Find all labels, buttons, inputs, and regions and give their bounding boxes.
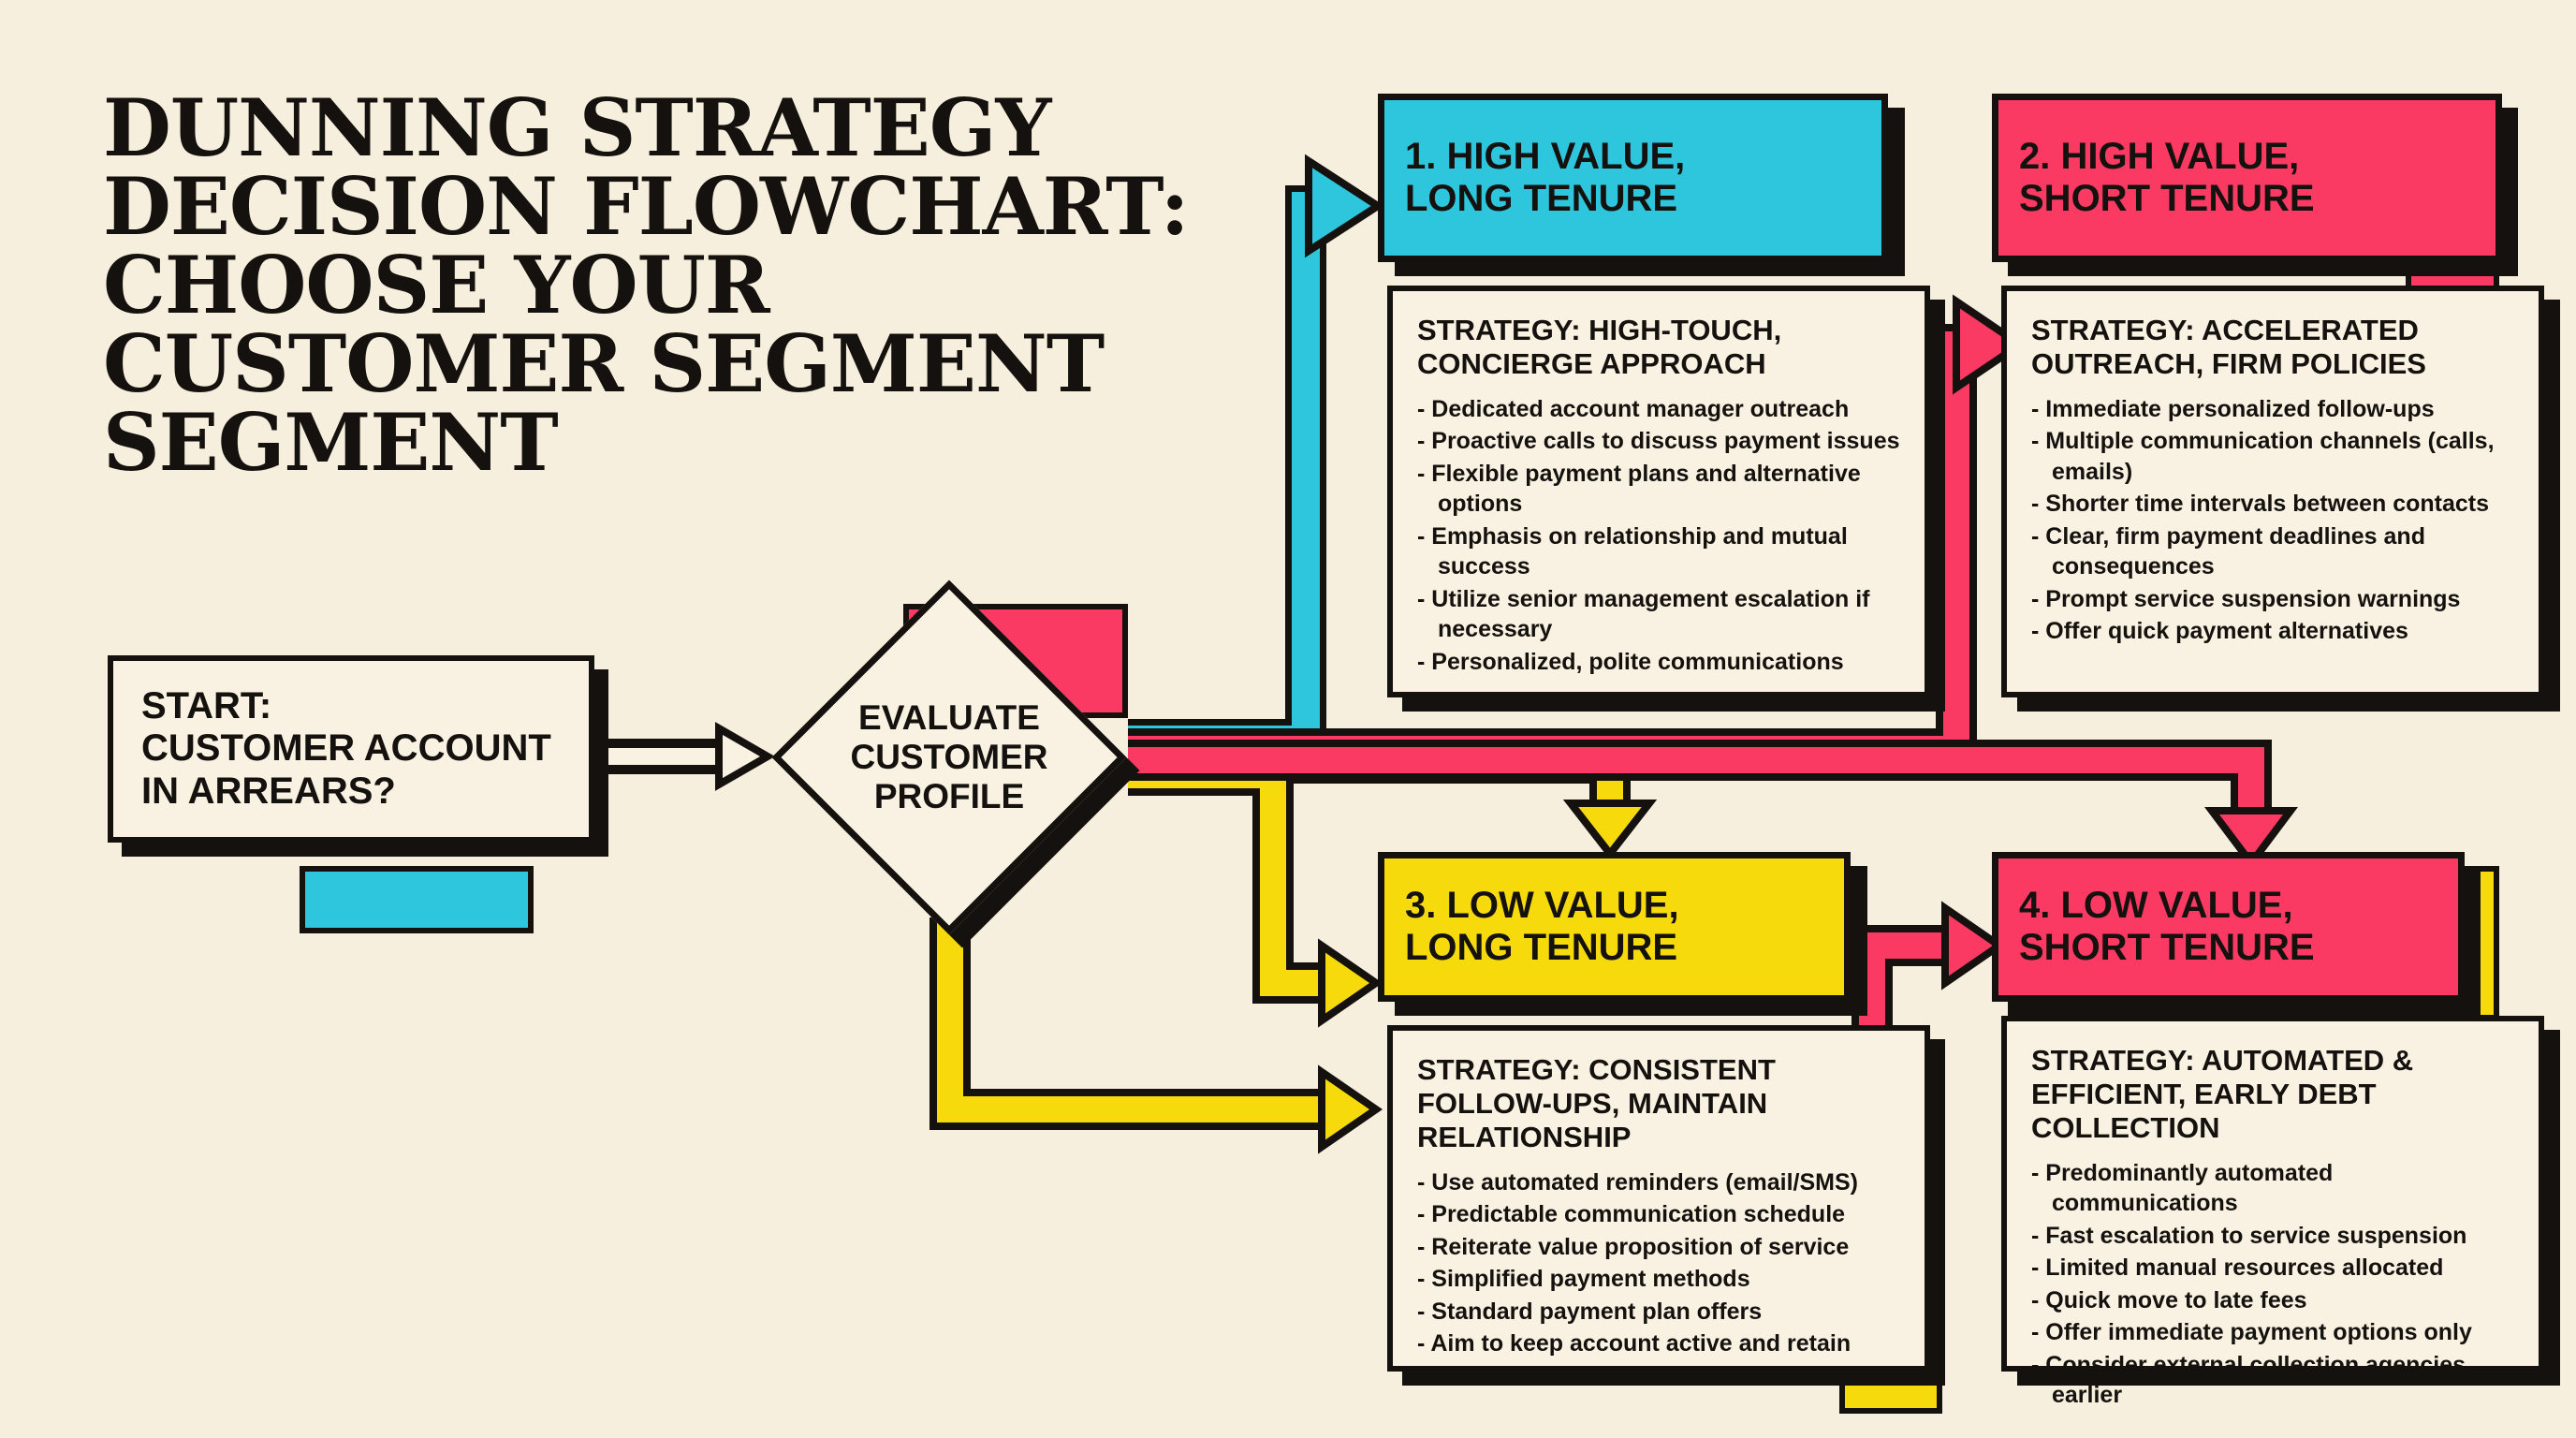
title-line-5: SEGMENT (103, 404, 1273, 482)
branch-1-strategy-title: STRATEGY: HIGH-TOUCH, CONCIERGE APPROACH (1417, 314, 1900, 381)
branch-3-header-line-2: LONG TENURE (1405, 927, 1679, 969)
branch-1-strategy-line-2: CONCIERGE APPROACH (1417, 347, 1900, 381)
connector-decision-to-branch-3-strategy (950, 917, 1376, 1147)
decision-label: EVALUATE CUSTOMER PROFILE (824, 632, 1075, 883)
list-item: - Fast escalation to service suspension (2031, 1221, 2514, 1254)
list-item: - Aim to keep account active and retain (1417, 1328, 1900, 1361)
start-line-3: IN ARREARS? (141, 770, 551, 814)
flowchart-canvas: DUNNING STRATEGY DECISION FLOWCHART: CHO… (0, 0, 2576, 1438)
branch-4-card[interactable]: STRATEGY: AUTOMATED & EFFICIENT, EARLY D… (2001, 1016, 2544, 1372)
list-item: - Multiple communication channels (calls… (2031, 426, 2514, 489)
list-item: - Proactive calls to discuss payment iss… (1417, 426, 1900, 459)
branch-1-header[interactable]: 1. HIGH VALUE, LONG TENURE (1378, 94, 1888, 262)
decision-line-2: CUSTOMER (850, 738, 1047, 777)
branch-1-header-line-2: LONG TENURE (1405, 178, 1685, 220)
branch-3-header-label: 3. LOW VALUE, LONG TENURE (1384, 885, 1679, 969)
branch-3-strategy-line-1: STRATEGY: CONSISTENT (1417, 1053, 1900, 1087)
branch-2-card[interactable]: STRATEGY: ACCELERATED OUTREACH, FIRM POL… (2001, 286, 2544, 697)
title-line-1: DUNNING STRATEGY (103, 89, 1273, 168)
list-item: - Use automated reminders (email/SMS) (1417, 1167, 1900, 1200)
start-box-label: START: CUSTOMER ACCOUNT IN ARREARS? (113, 685, 551, 814)
branch-3-strategy-line-2: FOLLOW-UPS, MAINTAIN (1417, 1087, 1900, 1121)
list-item: - Immediate personalized follow-ups (2031, 394, 2514, 427)
page-title: DUNNING STRATEGY DECISION FLOWCHART: CHO… (103, 89, 1273, 482)
branch-1-header-label: 1. HIGH VALUE, LONG TENURE (1384, 136, 1685, 220)
connector-start-to-decision (585, 728, 768, 785)
branch-4-header-line-2: SHORT TENURE (2019, 927, 2315, 969)
start-line-2: CUSTOMER ACCOUNT (141, 727, 551, 770)
branch-2-header[interactable]: 2. HIGH VALUE, SHORT TENURE (1992, 94, 2502, 262)
branch-2-header-line-2: SHORT TENURE (2019, 178, 2315, 220)
list-item: - Simplified payment methods (1417, 1264, 1900, 1297)
list-item: - Offer quick payment alternatives (2031, 616, 2514, 649)
list-item: - Limited manual resources allocated (2031, 1253, 2514, 1285)
accent-slab-cyan-start (300, 866, 534, 933)
branch-4-strategy-title: STRATEGY: AUTOMATED & EFFICIENT, EARLY D… (2031, 1044, 2514, 1145)
decision-node[interactable]: EVALUATE CUSTOMER PROFILE (824, 632, 1075, 883)
branch-3-bullets: - Use automated reminders (email/SMS) - … (1417, 1167, 1900, 1361)
branch-2-bullets: - Immediate personalized follow-ups - Mu… (2031, 394, 2514, 649)
branch-1-bullets: - Dedicated account manager outreach - P… (1417, 394, 1900, 680)
branch-3-strategy-line-3: RELATIONSHIP (1417, 1121, 1900, 1154)
list-item: - Reiterate value proposition of service (1417, 1232, 1900, 1265)
branch-3-strategy-title: STRATEGY: CONSISTENT FOLLOW-UPS, MAINTAI… (1417, 1053, 1900, 1154)
branch-4-header-line-1: 4. LOW VALUE, (2019, 885, 2315, 927)
branch-4-header-label: 4. LOW VALUE, SHORT TENURE (1998, 885, 2315, 969)
branch-2-header-label: 2. HIGH VALUE, SHORT TENURE (1998, 136, 2315, 220)
title-line-2: DECISION FLOWCHART: (103, 168, 1273, 246)
branch-4-strategy-line-3: COLLECTION (2031, 1111, 2514, 1145)
connector-decision-to-branch-3-top (1128, 763, 1649, 854)
title-line-3: CHOOSE YOUR (103, 246, 1273, 325)
branch-2-header-line-1: 2. HIGH VALUE, (2019, 136, 2315, 178)
branch-1-card[interactable]: STRATEGY: HIGH-TOUCH, CONCIERGE APPROACH… (1387, 286, 1930, 697)
list-item: - Predictable communication schedule (1417, 1199, 1900, 1232)
connector-decision-to-branch-3-left (1128, 775, 1376, 1020)
branch-4-strategy-line-2: EFFICIENT, EARLY DEBT (2031, 1078, 2514, 1111)
list-item: - Consider external collection agencies … (2031, 1350, 2514, 1413)
list-item: - Dedicated account manager outreach (1417, 394, 1900, 427)
list-item: - Personalized, polite communications (1417, 647, 1900, 680)
list-item: - Shorter time intervals between contact… (2031, 489, 2514, 521)
branch-4-bullets: - Predominantly automated communications… (2031, 1158, 2514, 1413)
decision-line-1: EVALUATE (850, 698, 1047, 738)
branch-4-header[interactable]: 4. LOW VALUE, SHORT TENURE (1992, 852, 2465, 1002)
branch-1-strategy-line-1: STRATEGY: HIGH-TOUCH, (1417, 314, 1900, 347)
branch-2-strategy-title: STRATEGY: ACCELERATED OUTREACH, FIRM POL… (2031, 314, 2514, 381)
branch-1-header-line-1: 1. HIGH VALUE, (1405, 136, 1685, 178)
list-item: - Utilize senior management escalation i… (1417, 584, 1900, 647)
branch-3-header-line-1: 3. LOW VALUE, (1405, 885, 1679, 927)
list-item: - Predominantly automated communications (2031, 1158, 2514, 1221)
connector-to-branch-4-top (1128, 760, 2291, 863)
list-item: - Quick move to late fees (2031, 1285, 2514, 1318)
list-item: - Clear, firm payment deadlines and cons… (2031, 521, 2514, 584)
title-line-4: CUSTOMER SEGMENT (103, 325, 1273, 404)
start-line-1: START: (141, 685, 551, 728)
decision-line-3: PROFILE (850, 777, 1047, 816)
start-box[interactable]: START: CUSTOMER ACCOUNT IN ARREARS? (108, 655, 594, 843)
list-item: - Standard payment plan offers (1417, 1297, 1900, 1329)
list-item: - Offer immediate payment options only (2031, 1317, 2514, 1350)
list-item: - Prompt service suspension warnings (2031, 584, 2514, 617)
list-item: - Emphasis on relationship and mutual su… (1417, 521, 1900, 584)
branch-3-header[interactable]: 3. LOW VALUE, LONG TENURE (1378, 852, 1851, 1002)
branch-2-strategy-line-1: STRATEGY: ACCELERATED (2031, 314, 2514, 347)
branch-4-strategy-line-1: STRATEGY: AUTOMATED & (2031, 1044, 2514, 1078)
branch-3-card[interactable]: STRATEGY: CONSISTENT FOLLOW-UPS, MAINTAI… (1387, 1025, 1930, 1372)
branch-2-strategy-line-2: OUTREACH, FIRM POLICIES (2031, 347, 2514, 381)
list-item: - Flexible payment plans and alternative… (1417, 459, 1900, 521)
